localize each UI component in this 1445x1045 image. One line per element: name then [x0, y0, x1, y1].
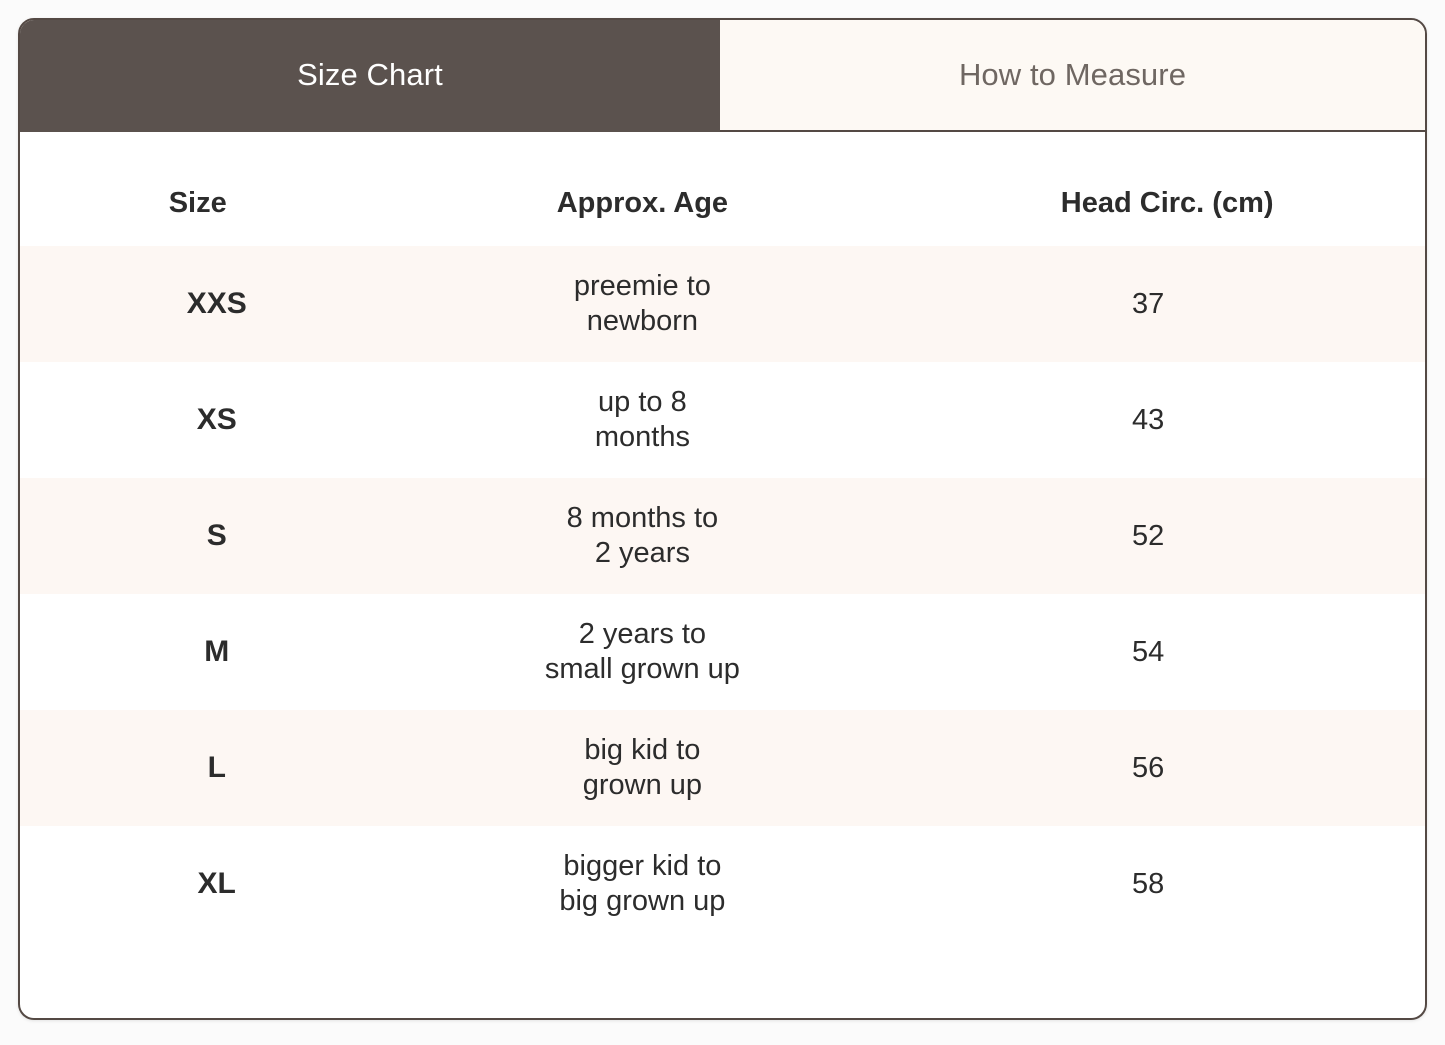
column-header-head-circ: Head Circ. (cm) [909, 132, 1425, 246]
size-label: XL [58, 866, 375, 902]
age-label: 8 months to 2 years [375, 501, 909, 572]
head-circ-value: 52 [909, 519, 1387, 554]
age-label: preemie to newborn [375, 269, 909, 340]
cell-head-circ: 56 [909, 710, 1425, 826]
size-label: M [58, 634, 375, 670]
cell-age: preemie to newborn [375, 246, 909, 362]
cell-size: M [20, 594, 375, 710]
table-row: XS up to 8 months 43 [20, 362, 1425, 478]
cell-head-circ: 37 [909, 246, 1425, 362]
cell-size: S [20, 478, 375, 594]
column-header-size: Size [20, 132, 375, 246]
cell-age: 2 years to small grown up [375, 594, 909, 710]
table-body: XXS preemie to newborn 37 XS up to 8 mon… [20, 246, 1425, 942]
size-label: L [58, 750, 375, 786]
age-label: big kid to grown up [375, 733, 909, 804]
size-label: XS [58, 402, 375, 438]
head-circ-value: 37 [909, 287, 1387, 322]
table-row: M 2 years to small grown up 54 [20, 594, 1425, 710]
size-chart-card: Size Chart How to Measure Size Approx. A… [18, 18, 1427, 1020]
table-row: XXS preemie to newborn 37 [20, 246, 1425, 362]
head-circ-value: 43 [909, 403, 1387, 438]
table-row: XL bigger kid to big grown up 58 [20, 826, 1425, 942]
head-circ-value: 56 [909, 751, 1387, 786]
cell-age: up to 8 months [375, 362, 909, 478]
tab-size-chart[interactable]: Size Chart [20, 20, 720, 132]
cell-age: bigger kid to big grown up [375, 826, 909, 942]
cell-size: XS [20, 362, 375, 478]
cell-age: big kid to grown up [375, 710, 909, 826]
cell-head-circ: 54 [909, 594, 1425, 710]
size-table-container: Size Approx. Age Head Circ. (cm) XXS pre… [20, 132, 1425, 942]
column-header-age: Approx. Age [375, 132, 909, 246]
cell-size: L [20, 710, 375, 826]
tab-how-to-measure[interactable]: How to Measure [720, 20, 1425, 132]
cell-head-circ: 58 [909, 826, 1425, 942]
cell-head-circ: 43 [909, 362, 1425, 478]
size-label: S [58, 518, 375, 554]
cell-age: 8 months to 2 years [375, 478, 909, 594]
age-label: bigger kid to big grown up [375, 849, 909, 920]
head-circ-value: 58 [909, 867, 1387, 902]
size-table: Size Approx. Age Head Circ. (cm) XXS pre… [20, 132, 1425, 942]
age-label: up to 8 months [375, 385, 909, 456]
cell-head-circ: 52 [909, 478, 1425, 594]
cell-size: XL [20, 826, 375, 942]
table-row: L big kid to grown up 56 [20, 710, 1425, 826]
head-circ-value: 54 [909, 635, 1387, 670]
cell-size: XXS [20, 246, 375, 362]
age-label: 2 years to small grown up [375, 617, 909, 688]
page-background: Size Chart How to Measure Size Approx. A… [0, 0, 1445, 1045]
size-label: XXS [58, 286, 375, 322]
header-row: Size Approx. Age Head Circ. (cm) [20, 132, 1425, 246]
table-row: S 8 months to 2 years 52 [20, 478, 1425, 594]
tab-bar: Size Chart How to Measure [20, 20, 1425, 132]
table-header: Size Approx. Age Head Circ. (cm) [20, 132, 1425, 246]
